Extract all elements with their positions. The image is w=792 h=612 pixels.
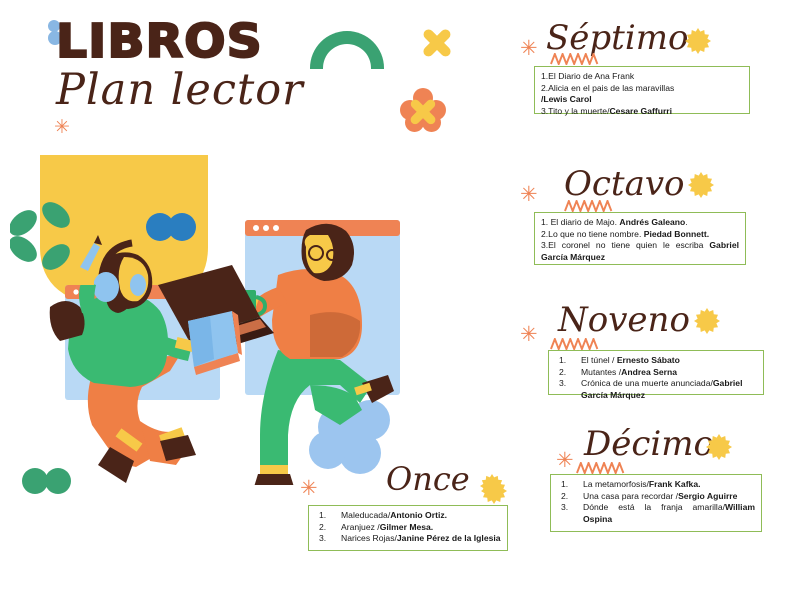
orange-squiggle-icon-octavo — [564, 200, 622, 212]
booklist-decimo: 1.La metamorfosis/Frank Kafka. 2.Una cas… — [550, 474, 762, 532]
orange-squiggle-icon-noveno — [550, 338, 608, 350]
book-item: 2.Aranjuez /Gilmer Mesa. — [315, 522, 501, 534]
yellow-burst-icon-decimo — [706, 434, 732, 460]
orange-asterisk-icon-octavo: ✳ — [520, 184, 538, 205]
book-item: 3.El coronel no tiene quien le escriba G… — [541, 240, 739, 263]
orange-squiggle-icon-decimo — [576, 462, 634, 474]
green-arch-icon — [310, 31, 384, 69]
book-item: 3.Crónica de una muerte anunciada/Gabrie… — [555, 378, 757, 401]
book-item: 1.La metamorfosis/Frank Kafka. — [557, 479, 755, 491]
grade-section-once: ✳ Once 1.Maleducada/Antonio Ortiz. 2.Ara… — [300, 462, 510, 551]
booklist-septimo: 1.El Diario de Ana Frank 2.Alicia en el … — [534, 66, 750, 114]
yellow-burst-icon-once-right — [480, 474, 504, 498]
grade-header-septimo: ✳ Séptimo — [520, 22, 760, 68]
poster-page: ✳ LIBROS Plan lector — [0, 0, 792, 612]
booklist-once: 1.Maleducada/Antonio Ortiz. 2.Aranjuez /… — [308, 505, 508, 551]
orange-asterisk-icon-once: ✳ — [300, 478, 318, 499]
orange-squiggle-icon-septimo — [550, 53, 608, 65]
orange-asterisk-icon-noveno: ✳ — [520, 324, 538, 345]
orange-asterisk-icon-decimo: ✳ — [556, 450, 574, 471]
grade-section-decimo: ✳ Décimo 1.La metamorfosis/Frank Kafka. … — [520, 428, 760, 532]
book-item: 2.Alicia en el pais de las maravillas — [541, 83, 743, 95]
orange-asterisk-icon-septimo: ✳ — [520, 38, 538, 59]
booklist-noveno: 1.El túnel / Ernesto Sábato 2.Mutantes /… — [548, 350, 764, 395]
grade-title-once: Once — [386, 462, 470, 497]
book-item: 1.El túnel / Ernesto Sábato — [555, 355, 757, 367]
grade-section-septimo: ✳ Séptimo 1.El Diario de Ana Frank 2.Ali… — [520, 22, 760, 114]
yellow-x-icon — [420, 26, 454, 60]
grade-title-decimo: Décimo — [584, 426, 714, 463]
book-item: 3.Narices Rojas/Janine Pérez de la Igles… — [315, 533, 501, 545]
book-item: 1.El Diario de Ana Frank — [541, 71, 743, 83]
book-item: 3.Dónde está la franja amarilla/William … — [557, 502, 755, 525]
reading-illustration — [10, 135, 410, 485]
page-title: LIBROS — [56, 18, 319, 64]
grade-title-septimo: Séptimo — [546, 20, 688, 57]
yellow-burst-icon-octavo — [688, 172, 714, 198]
book-item: /Lewis Carol — [541, 94, 743, 106]
grade-header-once: ✳ Once — [300, 462, 510, 508]
book-item: 1. El diario de Majo. Andrés Galeano. — [541, 217, 739, 229]
grade-header-noveno: ✳ Noveno — [520, 304, 760, 350]
book-item: 1.Maleducada/Antonio Ortiz. — [315, 510, 501, 522]
grade-header-octavo: ✳ Octavo — [520, 168, 760, 214]
book-item: 3.Tito y la muerte/Cesare Gaffurri — [541, 106, 743, 118]
booklist-octavo: 1. El diario de Majo. Andrés Galeano. 2.… — [534, 212, 746, 265]
poster-title-block: LIBROS Plan lector — [56, 18, 304, 113]
page-subtitle: Plan lector — [56, 68, 304, 113]
book-item: 2.Lo que no tiene nombre. Piedad Bonnett… — [541, 229, 739, 241]
yellow-burst-icon-noveno — [694, 308, 720, 334]
grade-title-noveno: Noveno — [558, 302, 690, 339]
grade-section-noveno: ✳ Noveno 1.El túnel / Ernesto Sábato 2.M… — [520, 304, 760, 395]
grade-title-octavo: Octavo — [564, 166, 685, 203]
book-item: 2.Mutantes /Andrea Serna — [555, 367, 757, 379]
grade-section-octavo: ✳ Octavo 1. El diario de Majo. Andrés Ga… — [520, 168, 760, 265]
book-item: 2.Una casa para recordar /Sergio Aguirre — [557, 491, 755, 503]
yellow-burst-icon-septimo — [685, 28, 711, 54]
grade-header-decimo: ✳ Décimo — [520, 428, 760, 474]
orange-flower-icon — [400, 88, 446, 134]
